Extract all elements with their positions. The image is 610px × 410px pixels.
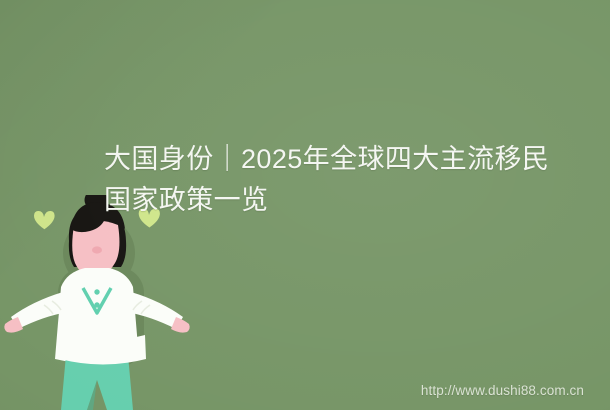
illustration-woman-arms-outstretched bbox=[0, 195, 230, 410]
site-url-watermark: http://www.dushi88.com.cn bbox=[421, 383, 584, 398]
nose bbox=[92, 246, 102, 253]
heart-left-icon bbox=[34, 211, 55, 229]
poster-canvas: 大国身份｜2025年全球四大主流移民国家政策一览 http://www.dush… bbox=[0, 0, 610, 410]
page-title: 大国身份｜2025年全球四大主流移民国家政策一览 bbox=[104, 139, 550, 221]
button-lower bbox=[94, 302, 99, 307]
button-upper bbox=[94, 289, 99, 294]
